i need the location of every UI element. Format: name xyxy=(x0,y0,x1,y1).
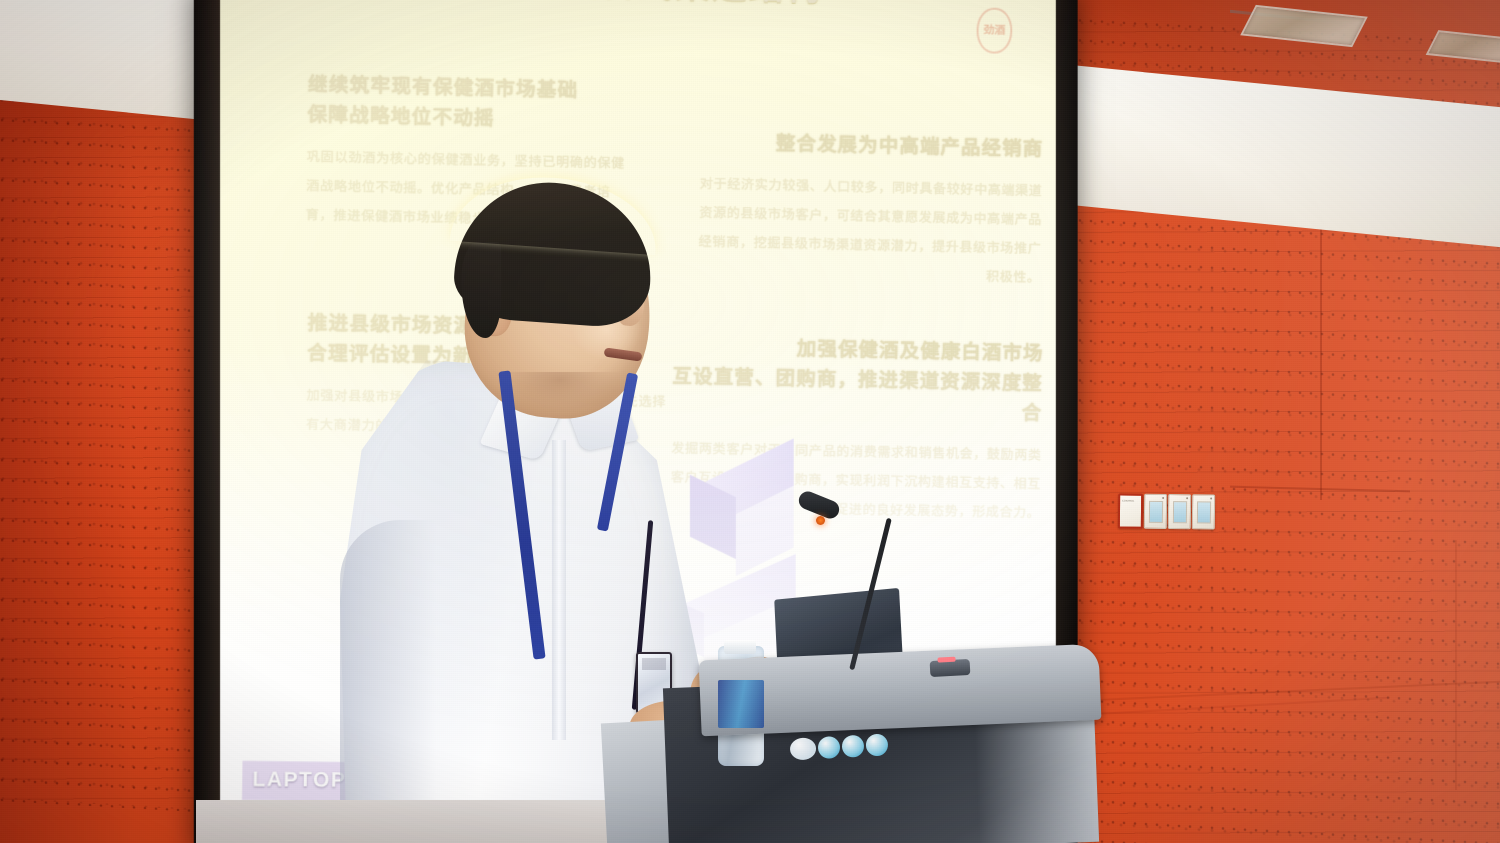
slide-block-body: 对于经济实力较强、人口较多，同时具备较好中高端渠道资源的县级市场客户，可结合其意… xyxy=(690,169,1042,292)
screen-bezel-left xyxy=(194,0,220,843)
shirt-placket xyxy=(552,440,566,740)
podium-decal-circle xyxy=(817,736,840,759)
light-switch-bank[interactable]: CONTROL xyxy=(1118,493,1215,529)
light-switch-2[interactable] xyxy=(1168,494,1191,529)
switch-indicator-dot xyxy=(1162,497,1164,499)
switch-plate-label: CONTROL xyxy=(1122,500,1139,504)
podium-decal-circle xyxy=(789,737,816,760)
wall-panel-seam xyxy=(1320,200,1322,500)
water-bottle-label xyxy=(718,680,764,728)
switch-indicator-dot xyxy=(1210,497,1212,499)
switch-label-plate[interactable]: CONTROL xyxy=(1118,493,1143,528)
slide-block-top-right: 整合发展为中高端产品经销商 对于经济实力较强、人口较多，同时具备较好中高端渠道资… xyxy=(690,127,1043,292)
switch-indicator-dot xyxy=(1186,497,1188,499)
jaw-shadow xyxy=(500,372,620,412)
slide-title: 打造县级市场复合式渠道结构 xyxy=(341,0,962,14)
switch-rocker[interactable] xyxy=(1173,501,1187,523)
sleeve-shading xyxy=(340,520,436,843)
slide-block-heading-line: 互设直营、团购商，推进渠道资源深度整合 xyxy=(662,361,1043,428)
microphone-led-indicator xyxy=(816,516,825,525)
podium-decal-circle xyxy=(865,733,888,756)
brand-logo-icon: 劲酒 xyxy=(976,7,1012,54)
microphone-base[interactable] xyxy=(930,659,971,677)
light-switch-1[interactable] xyxy=(1144,494,1167,529)
switch-rocker[interactable] xyxy=(1149,501,1163,523)
photograph-scene: CONTROL 打造县级市场复合式渠道结构 劲酒 xyxy=(0,0,1500,843)
slide-block-heading-line: 整合发展为中高端产品经销商 xyxy=(693,127,1044,165)
slide-block-heading-line: 保障战略地位不动摇 xyxy=(307,100,639,137)
switch-rocker[interactable] xyxy=(1197,501,1211,523)
water-bottle-cap xyxy=(724,640,756,654)
wall-panel-seam xyxy=(1455,540,1457,790)
light-switch-3[interactable] xyxy=(1192,494,1215,529)
podium-decal-circle xyxy=(841,735,864,758)
